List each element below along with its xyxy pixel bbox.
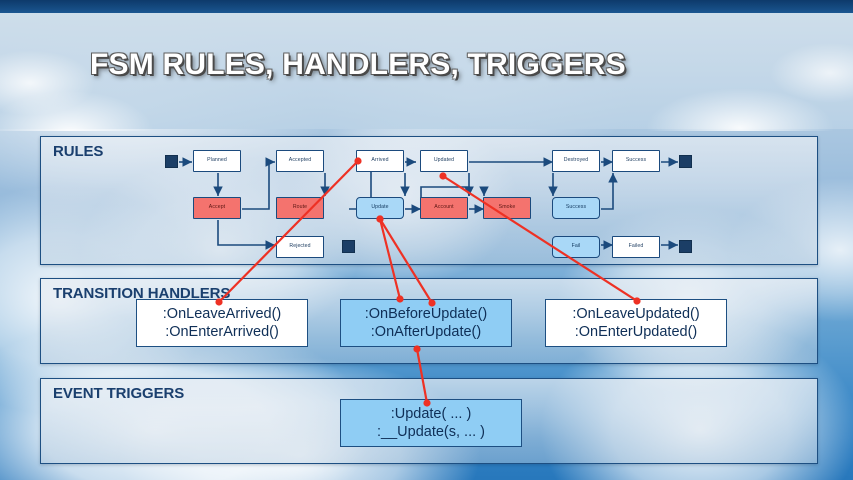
top-dark-band — [0, 0, 853, 13]
page-title: FSM RULES, HANDLERS, TRIGGERS — [90, 48, 626, 82]
fsm-node-accept: Accept — [193, 197, 241, 219]
code-line: :Update( ... ) — [391, 405, 472, 423]
code-line: :OnBeforeUpdate() — [365, 305, 488, 323]
fsm-terminal-start — [165, 155, 178, 168]
fsm-node-destroyed: Destroyed — [552, 150, 600, 172]
fsm-node-accepted: Accepted — [276, 150, 324, 172]
fsm-terminal-end3 — [679, 240, 692, 253]
fsm-node-arrived: Arrived — [356, 150, 404, 172]
updated-handlers-box: :OnLeaveUpdated():OnEnterUpdated() — [545, 299, 727, 347]
fsm-terminal-end1 — [679, 155, 692, 168]
fsm-node-success1: Success — [612, 150, 660, 172]
code-line: :OnAfterUpdate() — [371, 323, 481, 341]
fsm-terminal-end2 — [342, 240, 355, 253]
fsm-node-rejected: Rejected — [276, 236, 324, 258]
code-line: :OnEnterArrived() — [165, 323, 279, 341]
fsm-node-fail: Fail — [552, 236, 600, 258]
fsm-node-planned: Planned — [193, 150, 241, 172]
code-line: :OnLeaveUpdated() — [572, 305, 699, 323]
fsm-node-success2: Success — [552, 197, 600, 219]
slide-canvas: FSM RULES, HANDLERS, TRIGGERS RULES — [0, 0, 853, 480]
arrived-handlers-box: :OnLeaveArrived():OnEnterArrived() — [136, 299, 308, 347]
fsm-node-update: Update — [356, 197, 404, 219]
triggers-panel-title: EVENT TRIGGERS — [53, 385, 184, 402]
fsm-node-smoke: Smoke — [483, 197, 531, 219]
code-line: :OnLeaveArrived() — [163, 305, 281, 323]
fsm-node-route: Route — [276, 197, 324, 219]
fsm-node-updated: Updated — [420, 150, 468, 172]
code-line: :OnEnterUpdated() — [575, 323, 698, 341]
code-line: :__Update(s, ... ) — [377, 423, 485, 441]
fsm-node-failed: Failed — [612, 236, 660, 258]
update-triggers-box: :Update( ... ):__Update(s, ... ) — [340, 399, 522, 447]
fsm-node-account: Account — [420, 197, 468, 219]
update-handlers-box: :OnBeforeUpdate():OnAfterUpdate() — [340, 299, 512, 347]
